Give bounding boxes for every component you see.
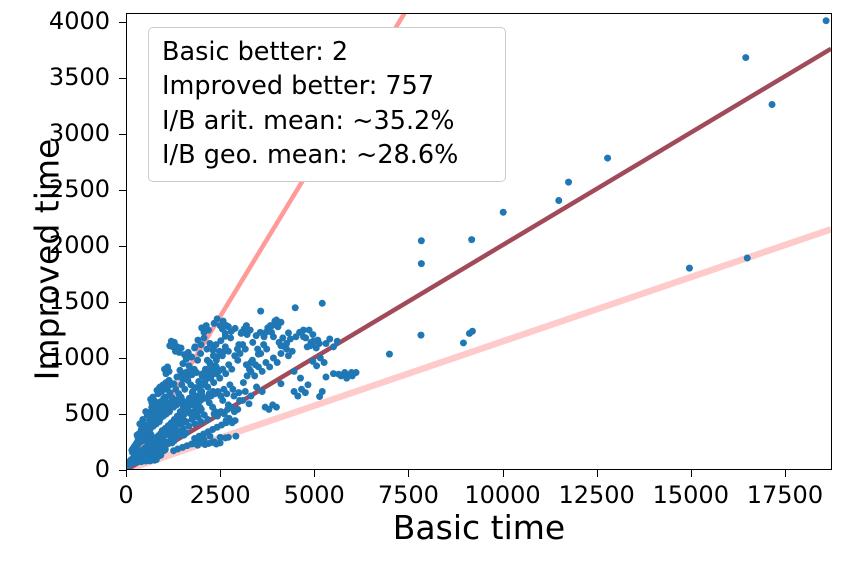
y-tick-mark bbox=[119, 246, 126, 247]
scatter-point bbox=[309, 358, 316, 365]
scatter-point bbox=[254, 346, 261, 353]
stats-legend-box: Basic better: 2Improved better: 757I/B a… bbox=[148, 27, 506, 182]
x-tick-mark bbox=[597, 470, 598, 477]
scatter-point bbox=[323, 374, 330, 381]
scatter-point bbox=[317, 355, 324, 362]
scatter-point bbox=[169, 400, 176, 407]
scatter-point bbox=[238, 330, 245, 337]
scatter-point bbox=[417, 332, 424, 339]
scatter-point bbox=[140, 454, 147, 461]
scatter-point bbox=[223, 390, 230, 397]
scatter-point bbox=[195, 384, 202, 391]
y-tick-mark bbox=[119, 22, 126, 23]
y-tick-mark bbox=[119, 190, 126, 191]
scatter-point bbox=[292, 304, 299, 311]
scatter-point bbox=[500, 209, 507, 216]
scatter-point bbox=[304, 381, 311, 388]
y-tick-mark bbox=[119, 302, 126, 303]
scatter-point bbox=[262, 359, 269, 366]
scatter-point bbox=[298, 386, 305, 393]
scatter-point bbox=[199, 370, 206, 377]
scatter-point bbox=[197, 350, 204, 357]
y-tick-mark bbox=[119, 358, 126, 359]
scatter-point bbox=[222, 343, 229, 350]
scatter-point bbox=[468, 236, 475, 243]
y-tick-mark bbox=[119, 414, 126, 415]
scatter-point bbox=[319, 300, 326, 307]
scatter-point bbox=[418, 260, 425, 267]
scatter-point bbox=[225, 361, 232, 368]
scatter-point bbox=[166, 342, 173, 349]
scatter-point bbox=[262, 404, 269, 411]
scatter-point bbox=[466, 330, 473, 337]
scatter-point bbox=[128, 447, 135, 454]
scatter-point bbox=[211, 410, 218, 417]
scatter-point bbox=[334, 338, 341, 345]
legend-line-0: Basic better: 2 bbox=[162, 35, 492, 69]
scatter-point bbox=[565, 179, 572, 186]
scatter-point bbox=[260, 341, 267, 348]
scatter-point bbox=[823, 17, 830, 24]
scatter-point bbox=[142, 408, 149, 415]
x-tick-mark bbox=[126, 470, 127, 477]
scatter-point bbox=[257, 329, 264, 336]
scatter-point bbox=[285, 329, 292, 336]
y-tick-mark bbox=[119, 470, 126, 471]
scatter-point bbox=[247, 392, 254, 399]
scatter-point bbox=[242, 388, 249, 395]
scatter-point bbox=[229, 386, 236, 393]
scatter-point bbox=[249, 357, 256, 364]
scatter-point bbox=[319, 388, 326, 395]
scatter-point bbox=[147, 396, 154, 403]
scatter-point bbox=[171, 419, 178, 426]
x-tick-mark bbox=[314, 470, 315, 477]
scatter-point bbox=[257, 308, 264, 315]
scatter-point bbox=[159, 427, 166, 434]
x-tick-mark bbox=[785, 470, 786, 477]
scatter-point bbox=[236, 397, 243, 404]
lower-bound-line bbox=[127, 229, 831, 469]
scatter-point bbox=[219, 397, 226, 404]
scatter-point bbox=[198, 324, 205, 331]
y-tick-mark bbox=[119, 134, 126, 135]
scatter-point bbox=[212, 341, 219, 348]
scatter-point bbox=[460, 339, 467, 346]
x-tick-mark bbox=[691, 470, 692, 477]
scatter-point bbox=[240, 379, 247, 386]
scatter-point bbox=[285, 352, 292, 359]
legend-line-1: Improved better: 757 bbox=[162, 69, 492, 103]
scatter-point bbox=[270, 355, 277, 362]
scatter-point bbox=[170, 447, 177, 454]
scatter-point bbox=[246, 400, 253, 407]
scatter-point bbox=[191, 343, 198, 350]
scatter-point bbox=[189, 388, 196, 395]
scatter-point bbox=[154, 387, 161, 394]
scatter-point bbox=[206, 340, 213, 347]
scatter-point bbox=[134, 432, 141, 439]
scatter-point bbox=[187, 410, 194, 417]
scatter-point bbox=[167, 433, 174, 440]
scatter-point bbox=[210, 352, 217, 359]
scatter-point bbox=[297, 375, 304, 382]
scatter-point bbox=[211, 320, 218, 327]
scatter-point bbox=[160, 395, 167, 402]
scatter-point bbox=[223, 417, 230, 424]
scatter-point bbox=[188, 399, 195, 406]
scatter-point bbox=[249, 339, 256, 346]
scatter-point bbox=[216, 348, 223, 355]
scatter-point bbox=[349, 372, 356, 379]
scatter-point bbox=[253, 384, 260, 391]
x-tick-mark bbox=[408, 470, 409, 477]
scatter-point bbox=[181, 351, 188, 358]
scatter-point bbox=[234, 346, 241, 353]
legend-line-2: I/B arit. mean: ~35.2% bbox=[162, 104, 492, 138]
scatter-point bbox=[418, 237, 425, 244]
scatter-point bbox=[194, 357, 201, 364]
scatter-point bbox=[742, 54, 749, 61]
scatter-point bbox=[296, 329, 303, 336]
scatter-point bbox=[306, 327, 313, 334]
scatter-point bbox=[277, 380, 284, 387]
scatter-point bbox=[231, 392, 238, 399]
scatter-point bbox=[177, 372, 184, 379]
scatter-point bbox=[330, 370, 337, 377]
scatter-point bbox=[194, 337, 201, 344]
scatter-point bbox=[313, 344, 320, 351]
scatter-point bbox=[206, 390, 213, 397]
scatter-point bbox=[259, 388, 266, 395]
scatter-point bbox=[386, 351, 393, 358]
scatter-point bbox=[744, 255, 751, 262]
scatter-point bbox=[323, 340, 330, 347]
scatter-point bbox=[219, 325, 226, 332]
scatter-point bbox=[686, 265, 693, 272]
scatter-plot-figure: Improved time 05001000150020002500300035… bbox=[0, 0, 842, 565]
scatter-point bbox=[155, 411, 162, 418]
scatter-point bbox=[291, 388, 298, 395]
x-tick-mark bbox=[220, 470, 221, 477]
scatter-point bbox=[225, 323, 232, 330]
scatter-point bbox=[307, 342, 314, 349]
x-axis-label: Basic time bbox=[126, 508, 832, 547]
scatter-point bbox=[268, 322, 275, 329]
scatter-point bbox=[769, 101, 776, 108]
scatter-point bbox=[190, 440, 197, 447]
x-tick-mark bbox=[503, 470, 504, 477]
scatter-point bbox=[604, 155, 611, 162]
scatter-point bbox=[291, 368, 298, 375]
scatter-point bbox=[555, 197, 562, 204]
scatter-point bbox=[204, 357, 211, 364]
scatter-point bbox=[232, 433, 239, 440]
scatter-point bbox=[276, 339, 283, 346]
scatter-point bbox=[161, 366, 168, 373]
y-tick-mark bbox=[119, 78, 126, 79]
scatter-point bbox=[277, 350, 284, 357]
scatter-point bbox=[243, 361, 250, 368]
legend-line-3: I/B geo. mean: ~28.6% bbox=[162, 138, 492, 172]
